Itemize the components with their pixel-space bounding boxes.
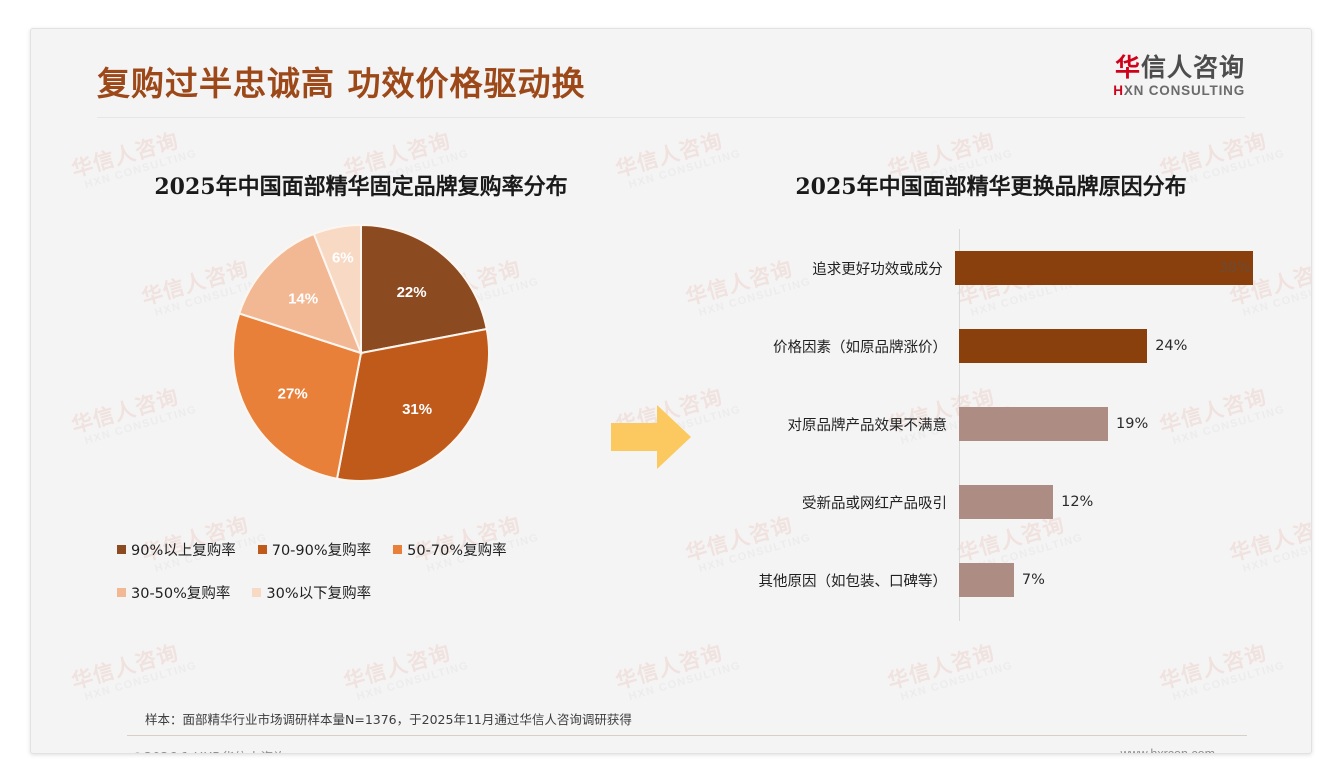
bar-rows: 追求更好功效或成分38%价格因素（如原品牌涨价）24%对原品牌产品效果不满意19…	[731, 229, 1251, 619]
logo-english-highlight: H	[1113, 83, 1124, 98]
legend-label: 50-70%复购率	[407, 539, 506, 560]
pie-slice-label: 27%	[278, 385, 308, 402]
bar-fill[interactable]	[959, 563, 1014, 597]
watermark: 华信人咨询HXN CONSULTING	[68, 633, 199, 706]
right-arrow-icon	[609, 401, 693, 473]
bar-value-label: 24%	[1155, 338, 1187, 354]
bar-row: 追求更好功效或成分38%	[731, 229, 1251, 307]
legend-swatch	[252, 588, 261, 597]
legend-swatch	[258, 545, 267, 554]
bar-track: 38%	[955, 229, 1251, 307]
legend-item[interactable]: 90%以上复购率	[117, 539, 236, 560]
bar-fill[interactable]	[959, 407, 1108, 441]
copyright-text: ©2026.1 HXR华信人咨询	[131, 747, 286, 754]
logo-chinese-rest: 信人咨询	[1141, 53, 1245, 82]
bar-track: 12%	[959, 463, 1251, 541]
bar-track: 7%	[959, 541, 1251, 619]
pie-chart-title: 2025年中国面部精华固定品牌复购率分布	[101, 169, 621, 201]
watermark: 华信人咨询HXN CONSULTING	[340, 633, 471, 706]
website-url: www.hxrcon.com	[1121, 747, 1215, 754]
watermark: 华信人咨询HXN CONSULTING	[884, 633, 1015, 706]
logo-english: HXN CONSULTING	[1113, 83, 1245, 98]
footer-divider	[127, 735, 1247, 736]
slide: 华信人咨询HXN CONSULTING华信人咨询HXN CONSULTING华信…	[30, 28, 1312, 754]
bar-value-label: 38%	[1219, 260, 1251, 276]
legend-row: 90%以上复购率70-90%复购率50-70%复购率	[117, 539, 621, 560]
company-logo: 华信人咨询 HXN CONSULTING	[1113, 55, 1245, 98]
bar-category-label: 对原品牌产品效果不满意	[731, 414, 959, 435]
bar-fill[interactable]	[959, 329, 1147, 363]
legend-label: 30%以下复购率	[266, 582, 371, 603]
bar-chart-title: 2025年中国面部精华更换品牌原因分布	[731, 169, 1251, 201]
bar-track: 19%	[959, 385, 1251, 463]
legend-swatch	[117, 588, 126, 597]
legend-row: 30-50%复购率30%以下复购率	[117, 582, 621, 603]
bar-value-label: 7%	[1022, 572, 1045, 588]
watermark: 华信人咨询HXN CONSULTING	[1156, 633, 1287, 706]
bar-category-label: 其他原因（如包装、口碑等）	[731, 570, 959, 591]
logo-chinese-highlight: 华	[1115, 53, 1141, 82]
header-divider	[97, 117, 1245, 118]
bar-value-label: 19%	[1116, 416, 1148, 432]
bar-category-label: 受新品或网红产品吸引	[731, 492, 959, 513]
bar-chart-area: 追求更好功效或成分38%价格因素（如原品牌涨价）24%对原品牌产品效果不满意19…	[731, 229, 1251, 629]
pie-chart-legend: 90%以上复购率70-90%复购率50-70%复购率30-50%复购率30%以下…	[101, 539, 621, 603]
bar-category-label: 追求更好功效或成分	[731, 258, 955, 279]
bar-fill[interactable]	[955, 251, 1253, 285]
legend-label: 70-90%复购率	[272, 539, 371, 560]
bar-category-label: 价格因素（如原品牌涨价）	[731, 336, 959, 357]
legend-item[interactable]: 70-90%复购率	[258, 539, 371, 560]
flow-arrow	[609, 401, 693, 478]
bar-row: 对原品牌产品效果不满意19%	[731, 385, 1251, 463]
logo-chinese: 华信人咨询	[1113, 55, 1245, 81]
pie-chart-area: 22%31%27%14%6%	[101, 223, 621, 523]
pie-chart-svg: 22%31%27%14%6%	[231, 223, 491, 483]
legend-swatch	[117, 545, 126, 554]
bar-row: 价格因素（如原品牌涨价）24%	[731, 307, 1251, 385]
legend-item[interactable]: 30%以下复购率	[252, 582, 371, 603]
pie-slice-label: 22%	[397, 284, 427, 301]
pie-slice-label: 31%	[402, 401, 432, 418]
slide-header: 复购过半忠诚高 功效价格驱动换 华信人咨询 HXN CONSULTING	[31, 29, 1311, 134]
legend-swatch	[393, 545, 402, 554]
bar-row: 受新品或网红产品吸引12%	[731, 463, 1251, 541]
legend-item[interactable]: 50-70%复购率	[393, 539, 506, 560]
watermark: 华信人咨询HXN CONSULTING	[612, 633, 743, 706]
pie-chart-panel: 2025年中国面部精华固定品牌复购率分布 22%31%27%14%6% 90%以…	[101, 169, 621, 625]
page-title: 复购过半忠诚高 功效价格驱动换	[97, 57, 586, 105]
legend-label: 90%以上复购率	[131, 539, 236, 560]
legend-label: 30-50%复购率	[131, 582, 230, 603]
bar-row: 其他原因（如包装、口碑等）7%	[731, 541, 1251, 619]
pie-slice-label: 6%	[332, 249, 354, 266]
legend-item[interactable]: 30-50%复购率	[117, 582, 230, 603]
pie-slice-label: 14%	[288, 291, 318, 308]
bar-fill[interactable]	[959, 485, 1053, 519]
bar-chart-panel: 2025年中国面部精华更换品牌原因分布 追求更好功效或成分38%价格因素（如原品…	[731, 169, 1251, 629]
logo-english-rest: XN CONSULTING	[1124, 83, 1245, 98]
bar-track: 24%	[959, 307, 1251, 385]
source-note: 样本：面部精华行业市场调研样本量N=1376，于2025年11月通过华信人咨询调…	[145, 709, 632, 728]
bar-value-label: 12%	[1061, 494, 1093, 510]
